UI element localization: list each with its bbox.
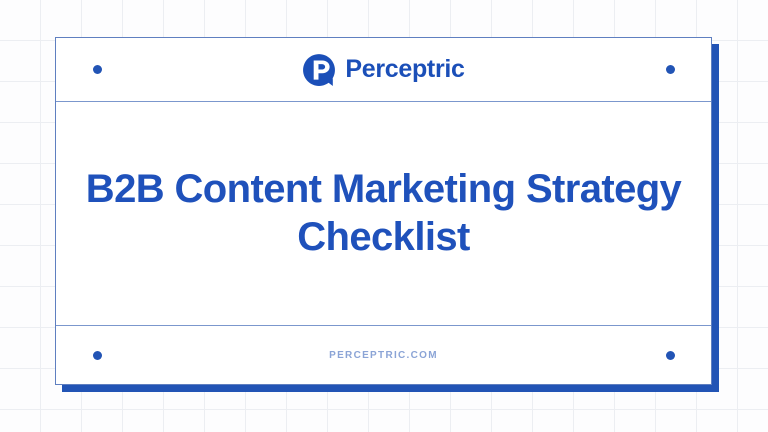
header-decorative-dot-right (666, 65, 675, 74)
footer-website-url: PERCEPTRIC.COM (329, 350, 438, 361)
card-footer: PERCEPTRIC.COM (56, 325, 711, 384)
slide-canvas: Perceptric B2B Content Marketing Strateg… (0, 0, 768, 432)
perceptric-logo-icon (302, 53, 336, 87)
card-body: B2B Content Marketing Strategy Checklist (56, 102, 711, 325)
slide-card: Perceptric B2B Content Marketing Strateg… (55, 37, 712, 385)
footer-decorative-dot-left (93, 351, 102, 360)
brand-lockup: Perceptric (302, 53, 464, 87)
header-decorative-dot-left (93, 65, 102, 74)
brand-name: Perceptric (345, 57, 464, 82)
footer-decorative-dot-right (666, 351, 675, 360)
card-header: Perceptric (56, 38, 711, 102)
page-title: B2B Content Marketing Strategy Checklist (74, 166, 693, 260)
